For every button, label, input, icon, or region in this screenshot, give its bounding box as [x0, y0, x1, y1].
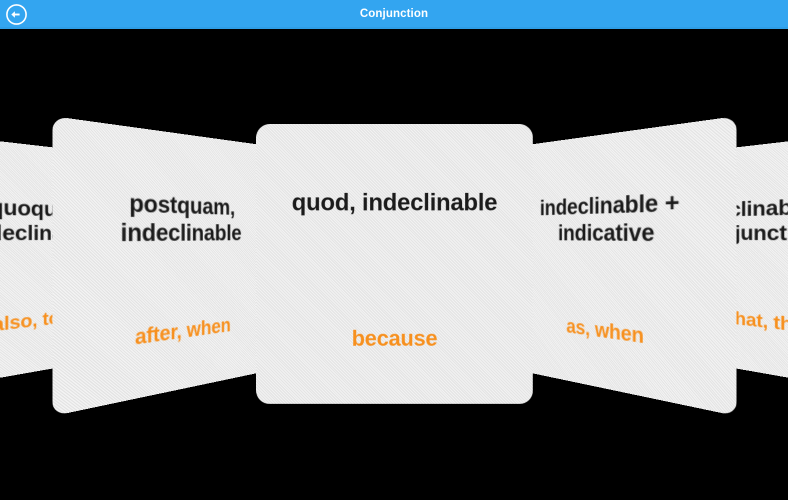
flashcard-term: indeclinable + indicative [514, 186, 722, 249]
flashcard-term: quod, indeclinable [270, 188, 520, 216]
flashcard-definition: because [270, 327, 520, 352]
page-title: Conjunction [0, 0, 788, 29]
flashcard-center-active[interactable]: quod, indeclinable because [256, 124, 533, 404]
flashcard-right[interactable]: indeclinable + indicative as, when [505, 116, 737, 416]
flashcard-carousel[interactable]: quoque, indeclinable also, too postquam,… [0, 29, 788, 500]
flashcard-definition: as, when [514, 308, 722, 359]
flashcard-left[interactable]: postquam, indeclinable after, when [52, 116, 283, 416]
flashcard-term: postquam, indeclinable [67, 186, 275, 249]
flashcard-definition: after, when [67, 308, 275, 359]
app-header: Conjunction [0, 0, 788, 29]
